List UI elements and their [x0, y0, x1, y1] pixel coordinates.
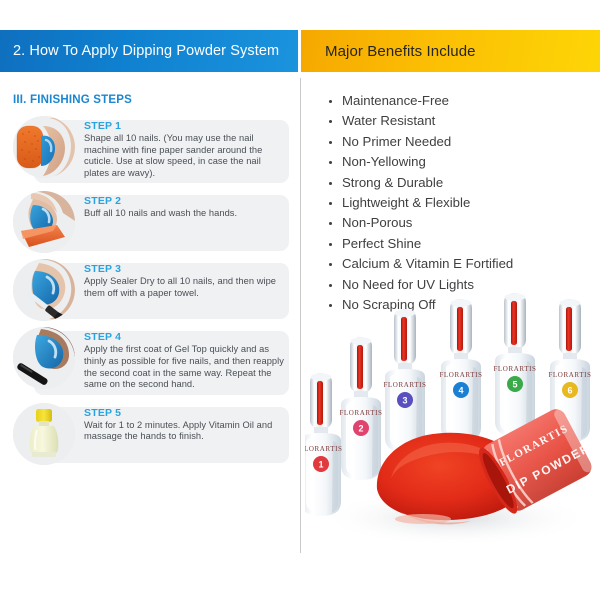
- step-item: STEP 1 Shape all 10 nails. (You may use …: [8, 116, 291, 185]
- svg-text:6: 6: [567, 386, 572, 396]
- product-photo: FLORARTIS 6 FLORARTIS 5 FLORARTIS 4: [305, 293, 600, 553]
- svg-text:4: 4: [458, 386, 463, 396]
- benefit-label: Non-Porous: [342, 215, 412, 230]
- benefit-item: Maintenance-Free: [328, 91, 513, 111]
- step-3-text: Apply Sealer Dry to all 10 nails, and th…: [84, 276, 285, 299]
- steps-list: STEP 1 Shape all 10 nails. (You may use …: [8, 116, 291, 471]
- finishing-steps-title: III. FINISHING STEPS: [13, 94, 132, 106]
- step-5-label: STEP 5: [84, 407, 285, 419]
- svg-text:FLORARTIS: FLORARTIS: [493, 365, 536, 373]
- benefit-label: No Need for UV Lights: [342, 277, 474, 292]
- bullet-icon: [329, 202, 332, 205]
- step-2-text: Buff all 10 nails and wash the hands.: [84, 208, 285, 220]
- step-1-body: STEP 1 Shape all 10 nails. (You may use …: [84, 116, 291, 185]
- bullet-icon: [329, 182, 332, 185]
- step-1-image: [13, 116, 75, 178]
- step-5-image: [13, 403, 75, 465]
- header-bar-right: Major Benefits Include: [301, 30, 600, 72]
- benefit-item: Non-Yellowing: [328, 152, 513, 172]
- benefit-label: No Primer Needed: [342, 134, 451, 149]
- step-1-label: STEP 1: [84, 120, 285, 132]
- step-item: STEP 4 Apply the first coat of Gel Top q…: [8, 327, 291, 396]
- svg-text:FLORARTIS: FLORARTIS: [339, 409, 382, 417]
- bottle-5: FLORARTIS 5: [493, 293, 536, 436]
- header-row: 2. How To Apply Dipping Powder System Ma…: [0, 30, 600, 72]
- svg-text:2: 2: [358, 424, 363, 434]
- step-3-image: [13, 259, 75, 321]
- step-item: STEP 2 Buff all 10 nails and wash the ha…: [8, 191, 291, 253]
- step-2-body: STEP 2 Buff all 10 nails and wash the ha…: [84, 191, 291, 226]
- step-4-label: STEP 4: [84, 331, 285, 343]
- bottle-3: FLORARTIS 3: [383, 309, 426, 452]
- benefit-label: Non-Yellowing: [342, 154, 426, 169]
- benefit-item: Perfect Shine: [328, 234, 513, 254]
- step-5-text: Wait for 1 to 2 minutes. Apply Vitamin O…: [84, 420, 285, 443]
- benefit-item: Non-Porous: [328, 213, 513, 233]
- benefit-label: Lightweight & Flexible: [342, 195, 470, 210]
- bottle-1: FLORARTIS 1: [305, 373, 343, 516]
- bullet-icon: [329, 120, 332, 123]
- benefit-label: Maintenance-Free: [342, 93, 449, 108]
- bottle-4: FLORARTIS 4: [439, 299, 482, 442]
- svg-text:FLORARTIS: FLORARTIS: [439, 371, 482, 379]
- bullet-icon: [329, 161, 332, 164]
- bullet-icon: [329, 284, 332, 287]
- step-4-body: STEP 4 Apply the first coat of Gel Top q…: [84, 327, 291, 396]
- right-column: Maintenance-Free Water Resistant No Prim…: [301, 78, 600, 578]
- bullet-icon: [329, 141, 332, 144]
- step-item: STEP 3 Apply Sealer Dry to all 10 nails,…: [8, 259, 291, 321]
- bullet-icon: [329, 263, 332, 266]
- benefit-label: Perfect Shine: [342, 236, 421, 251]
- step-2-image: [13, 191, 75, 253]
- header-left-title: 2. How To Apply Dipping Powder System: [0, 43, 279, 59]
- benefit-item: Water Resistant: [328, 111, 513, 131]
- benefit-label: Water Resistant: [342, 113, 435, 128]
- svg-text:FLORARTIS: FLORARTIS: [305, 445, 343, 453]
- step-2-label: STEP 2: [84, 195, 285, 207]
- benefit-item: Lightweight & Flexible: [328, 193, 513, 213]
- step-4-image: [13, 327, 75, 389]
- benefit-label: Calcium & Vitamin E Fortified: [342, 256, 513, 271]
- benefit-item: No Primer Needed: [328, 132, 513, 152]
- benefit-label: Strong & Durable: [342, 175, 443, 190]
- step-4-text: Apply the first coat of Gel Top quickly …: [84, 344, 285, 390]
- left-column: III. FINISHING STEPS: [0, 78, 299, 578]
- header-right-title: Major Benefits Include: [301, 43, 476, 60]
- benefit-item: Calcium & Vitamin E Fortified: [328, 254, 513, 274]
- benefits-list: Maintenance-Free Water Resistant No Prim…: [328, 91, 513, 315]
- svg-text:FLORARTIS: FLORARTIS: [548, 371, 591, 379]
- svg-text:3: 3: [402, 396, 407, 406]
- benefit-item: Strong & Durable: [328, 173, 513, 193]
- svg-text:5: 5: [512, 380, 517, 390]
- header-bar-left: 2. How To Apply Dipping Powder System: [0, 30, 298, 72]
- svg-text:FLORARTIS: FLORARTIS: [383, 381, 426, 389]
- promo-page: 2. How To Apply Dipping Powder System Ma…: [0, 0, 600, 600]
- bottle-2: FLORARTIS 2: [339, 337, 382, 480]
- bullet-icon: [329, 243, 332, 246]
- step-item: STEP 5 Wait for 1 to 2 minutes. Apply Vi…: [8, 403, 291, 465]
- step-3-label: STEP 3: [84, 263, 285, 275]
- step-1-text: Shape all 10 nails. (You may use the nai…: [84, 133, 285, 179]
- step-3-body: STEP 3 Apply Sealer Dry to all 10 nails,…: [84, 259, 291, 305]
- svg-text:1: 1: [318, 460, 323, 470]
- benefit-item: No Need for UV Lights: [328, 275, 513, 295]
- bullet-icon: [329, 222, 332, 225]
- step-5-body: STEP 5 Wait for 1 to 2 minutes. Apply Vi…: [84, 403, 291, 449]
- bullet-icon: [329, 100, 332, 103]
